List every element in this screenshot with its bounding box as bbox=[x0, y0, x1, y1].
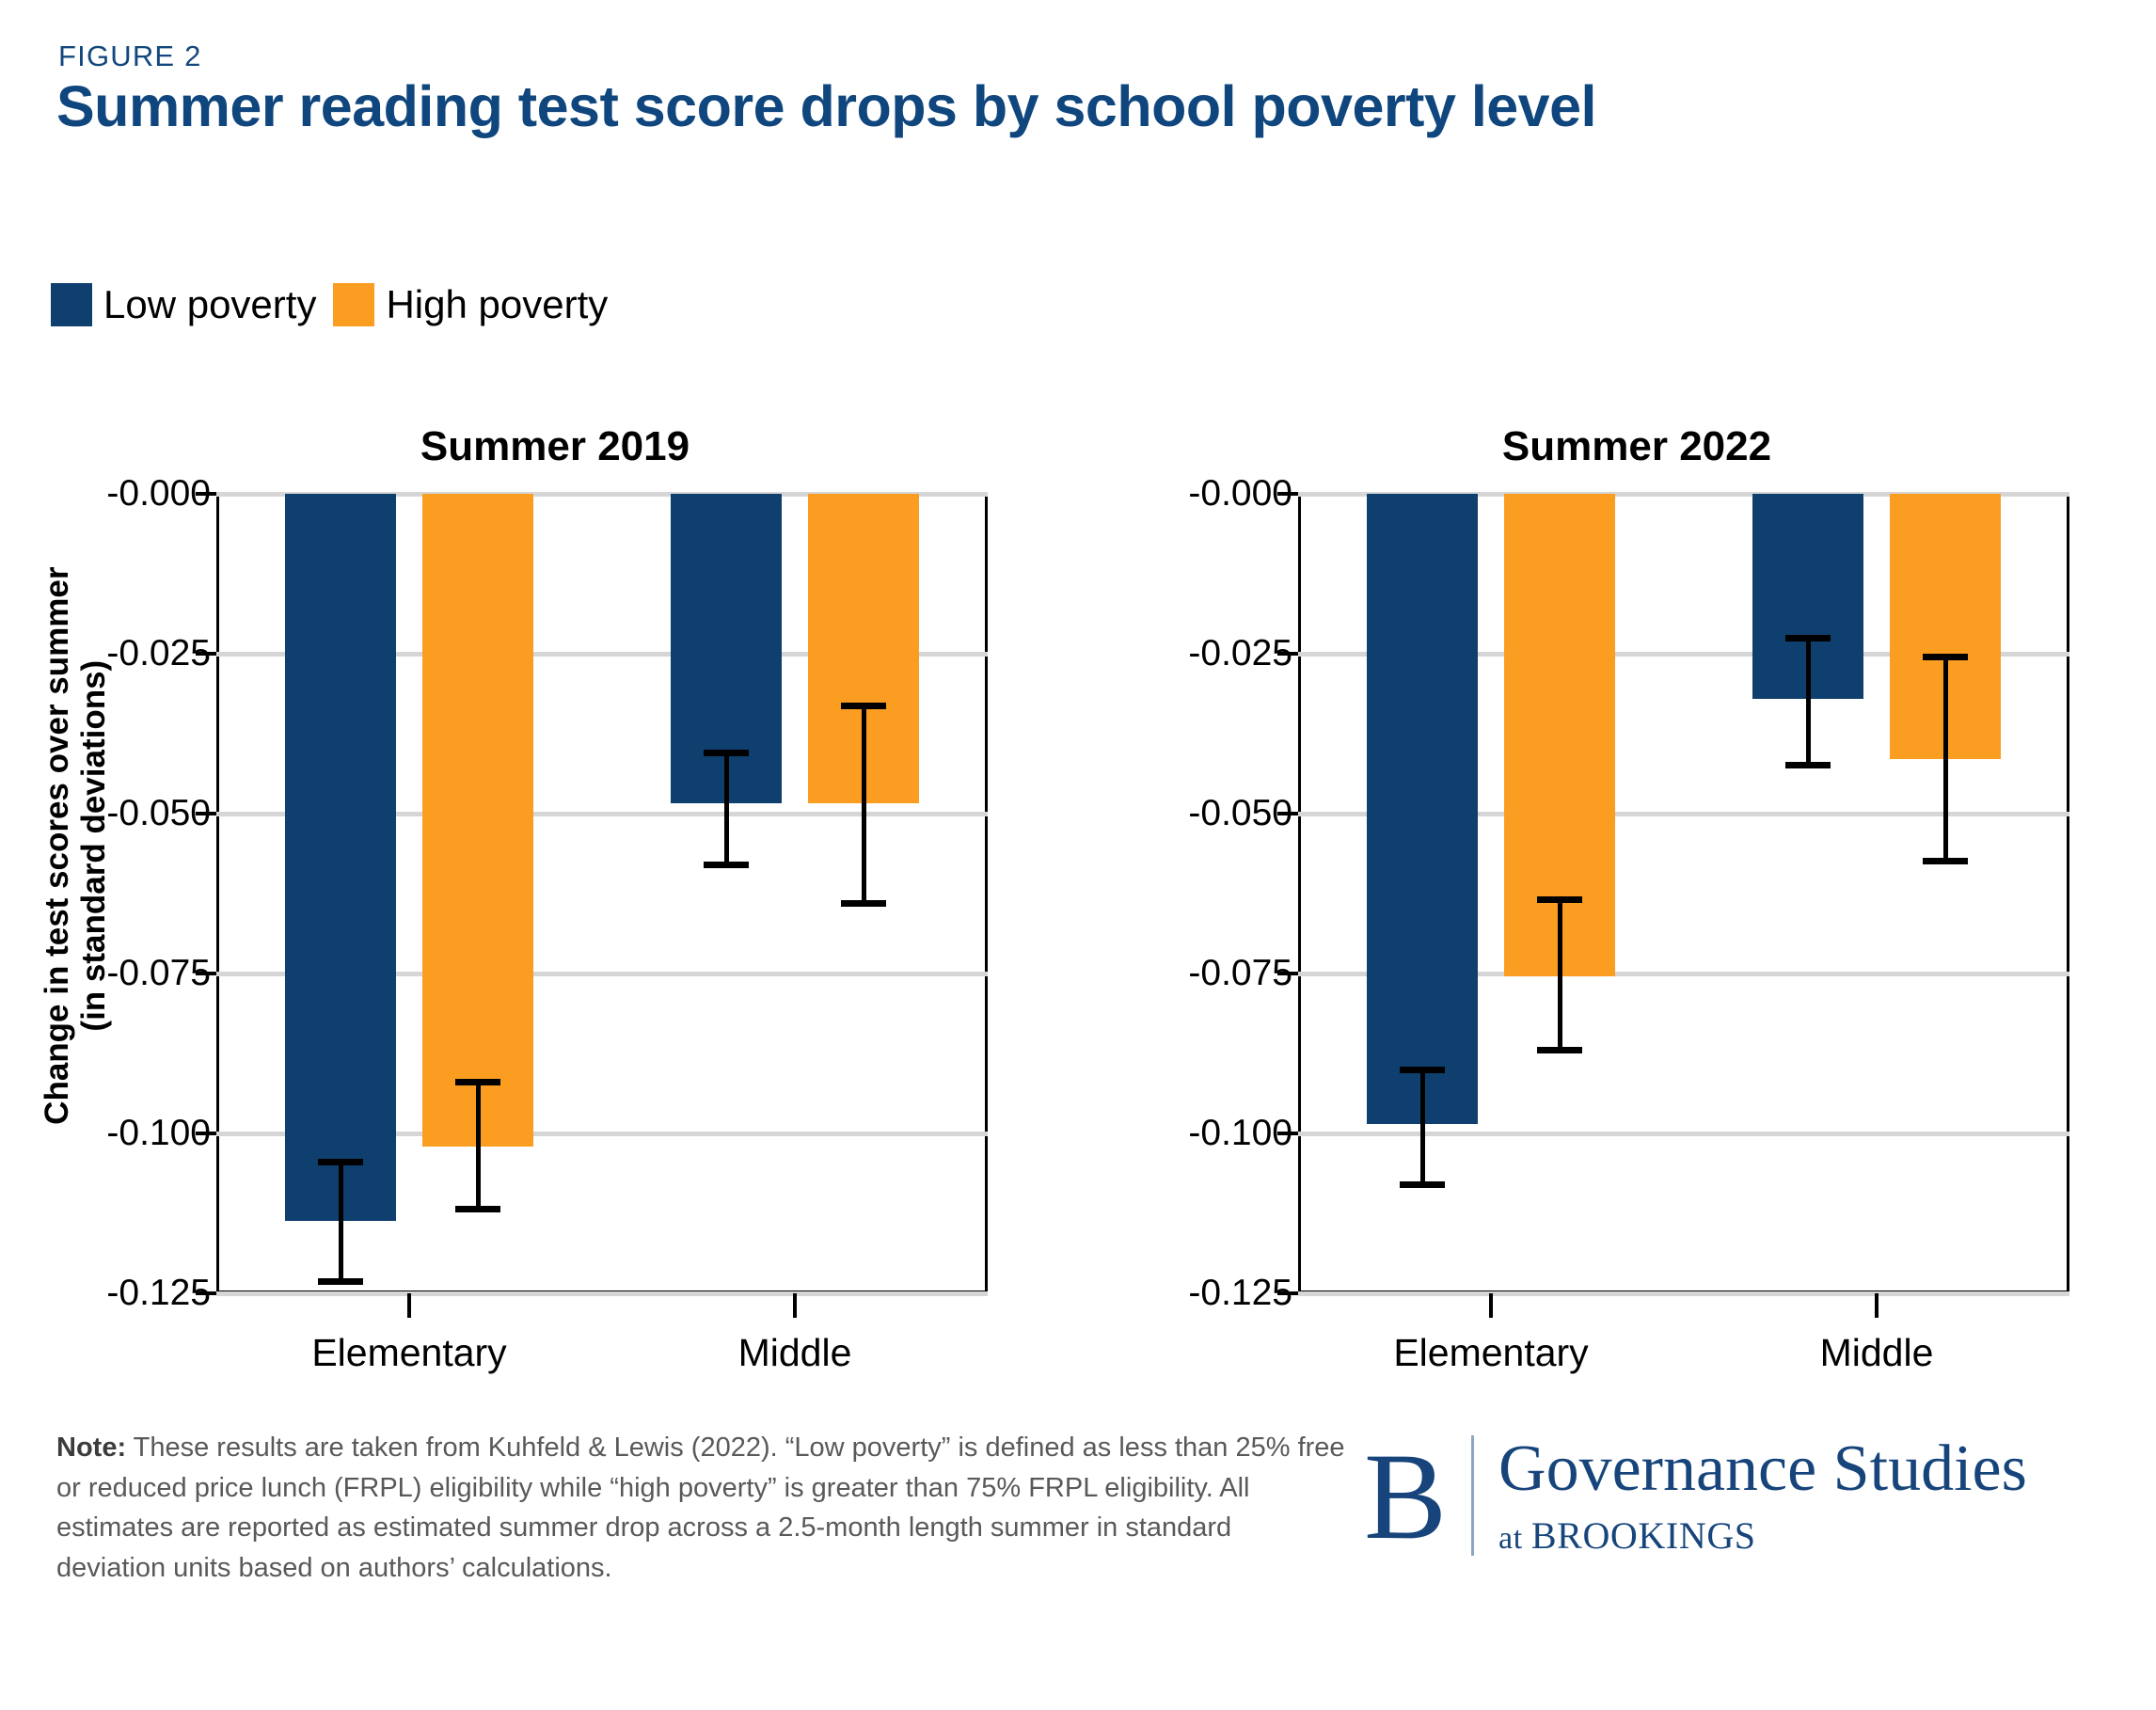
logo-wordmark: Governance Studies at BROOKINGS bbox=[1498, 1434, 2027, 1558]
y-tick-label: -0.075 bbox=[1188, 953, 1292, 994]
note-prefix: Note: bbox=[56, 1433, 126, 1463]
error-bar-cap bbox=[704, 862, 749, 868]
x-tick-label: Middle bbox=[738, 1331, 852, 1375]
x-tick-mark bbox=[1875, 1293, 1879, 1318]
brookings-b-mark: B bbox=[1364, 1437, 1447, 1555]
y-tick-label: -0.100 bbox=[106, 1113, 211, 1154]
x-tick-label: Middle bbox=[1820, 1331, 1934, 1375]
bar bbox=[422, 494, 533, 1147]
y-tick-label: -0.000 bbox=[106, 473, 211, 515]
error-bar-cap bbox=[455, 1079, 500, 1085]
legend-swatch-high-poverty bbox=[333, 283, 374, 326]
error-bar bbox=[1420, 1067, 1425, 1188]
error-bar-cap bbox=[1785, 762, 1831, 768]
y-tick-label: -0.075 bbox=[106, 953, 211, 994]
logo-line-at-brookings: at BROOKINGS bbox=[1498, 1513, 2027, 1558]
error-bar bbox=[476, 1079, 481, 1212]
x-tick-mark bbox=[793, 1293, 797, 1318]
error-bar bbox=[862, 703, 866, 906]
legend-swatch-low-poverty bbox=[51, 283, 92, 326]
legend-label-high-poverty: High poverty bbox=[386, 282, 608, 327]
error-bar-cap bbox=[318, 1278, 363, 1285]
gridline bbox=[216, 1291, 988, 1296]
error-bar-cap bbox=[704, 750, 749, 756]
error-bar-cap bbox=[455, 1206, 500, 1212]
y-tick-label: -0.000 bbox=[1188, 473, 1292, 515]
error-bar bbox=[724, 750, 729, 868]
error-bar bbox=[1806, 635, 1811, 769]
chart-panel-summer-2019: Summer 2019 Change in test scores over s… bbox=[28, 404, 1082, 1345]
note-text: Note: These results are taken from Kuhfe… bbox=[56, 1428, 1345, 1589]
error-bar-cap bbox=[1923, 858, 1968, 864]
chart-title-2022: Summer 2022 bbox=[1110, 423, 2156, 470]
y-tick-label: -0.125 bbox=[106, 1273, 211, 1314]
y-axis-label: Change in test scores over summer (in st… bbox=[39, 488, 112, 1203]
logo-line-governance-studies: Governance Studies bbox=[1498, 1434, 2027, 1504]
figure-page: FIGURE 2 Summer reading test score drops… bbox=[0, 0, 2156, 1710]
error-bar bbox=[1558, 896, 1562, 1053]
brookings-logo: B Governance Studies at BROOKINGS bbox=[1364, 1434, 2027, 1558]
error-bar-cap bbox=[1537, 896, 1582, 903]
error-bar bbox=[1943, 654, 1948, 864]
plot-area-2019: -0.000-0.025-0.050-0.075-0.100-0.125Elem… bbox=[216, 494, 988, 1293]
x-tick-label: Elementary bbox=[311, 1331, 506, 1375]
legend-item-high-poverty: High poverty bbox=[333, 282, 608, 327]
error-bar-cap bbox=[1785, 635, 1831, 641]
bar bbox=[285, 494, 396, 1221]
figure-label: FIGURE 2 bbox=[58, 40, 202, 73]
plot-area-2022: -0.000-0.025-0.050-0.075-0.100-0.125Elem… bbox=[1298, 494, 2069, 1293]
error-bar-cap bbox=[841, 703, 886, 709]
y-tick-label: -0.050 bbox=[1188, 793, 1292, 834]
error-bar bbox=[339, 1159, 343, 1285]
error-bar-cap bbox=[841, 900, 886, 907]
y-tick-label: -0.025 bbox=[1188, 633, 1292, 674]
error-bar-cap bbox=[1537, 1047, 1582, 1053]
y-axis-label-line1: Change in test scores over summer bbox=[39, 567, 75, 1125]
note-body: These results are taken from Kuhfeld & L… bbox=[56, 1433, 1345, 1583]
gridline bbox=[1298, 1291, 2069, 1296]
bar bbox=[1367, 494, 1478, 1124]
legend-item-low-poverty: Low poverty bbox=[51, 282, 316, 327]
error-bar-cap bbox=[1923, 654, 1968, 660]
gridline bbox=[1298, 1132, 2069, 1136]
legend-label-low-poverty: Low poverty bbox=[103, 282, 316, 327]
y-tick-label: -0.125 bbox=[1188, 1273, 1292, 1314]
logo-divider bbox=[1471, 1435, 1474, 1556]
error-bar-cap bbox=[1400, 1181, 1445, 1188]
error-bar-cap bbox=[318, 1159, 363, 1165]
chart-legend: Low poverty High poverty bbox=[51, 282, 608, 327]
x-tick-label: Elementary bbox=[1393, 1331, 1588, 1375]
logo-at-prefix: at bbox=[1498, 1521, 1531, 1556]
charts-container: Summer 2019 Change in test scores over s… bbox=[0, 404, 2156, 1345]
page-title: Summer reading test score drops by schoo… bbox=[56, 73, 1596, 139]
y-tick-label: -0.025 bbox=[106, 633, 211, 674]
y-tick-label: -0.050 bbox=[106, 793, 211, 834]
y-tick-label: -0.100 bbox=[1188, 1113, 1292, 1154]
x-tick-mark bbox=[407, 1293, 411, 1318]
chart-panel-summer-2022: Summer 2022 -0.000-0.025-0.050-0.075-0.1… bbox=[1110, 404, 2156, 1345]
logo-brookings: BROOKINGS bbox=[1531, 1514, 1756, 1557]
x-tick-mark bbox=[1489, 1293, 1493, 1318]
chart-title-2019: Summer 2019 bbox=[28, 423, 1082, 470]
error-bar-cap bbox=[1400, 1067, 1445, 1073]
